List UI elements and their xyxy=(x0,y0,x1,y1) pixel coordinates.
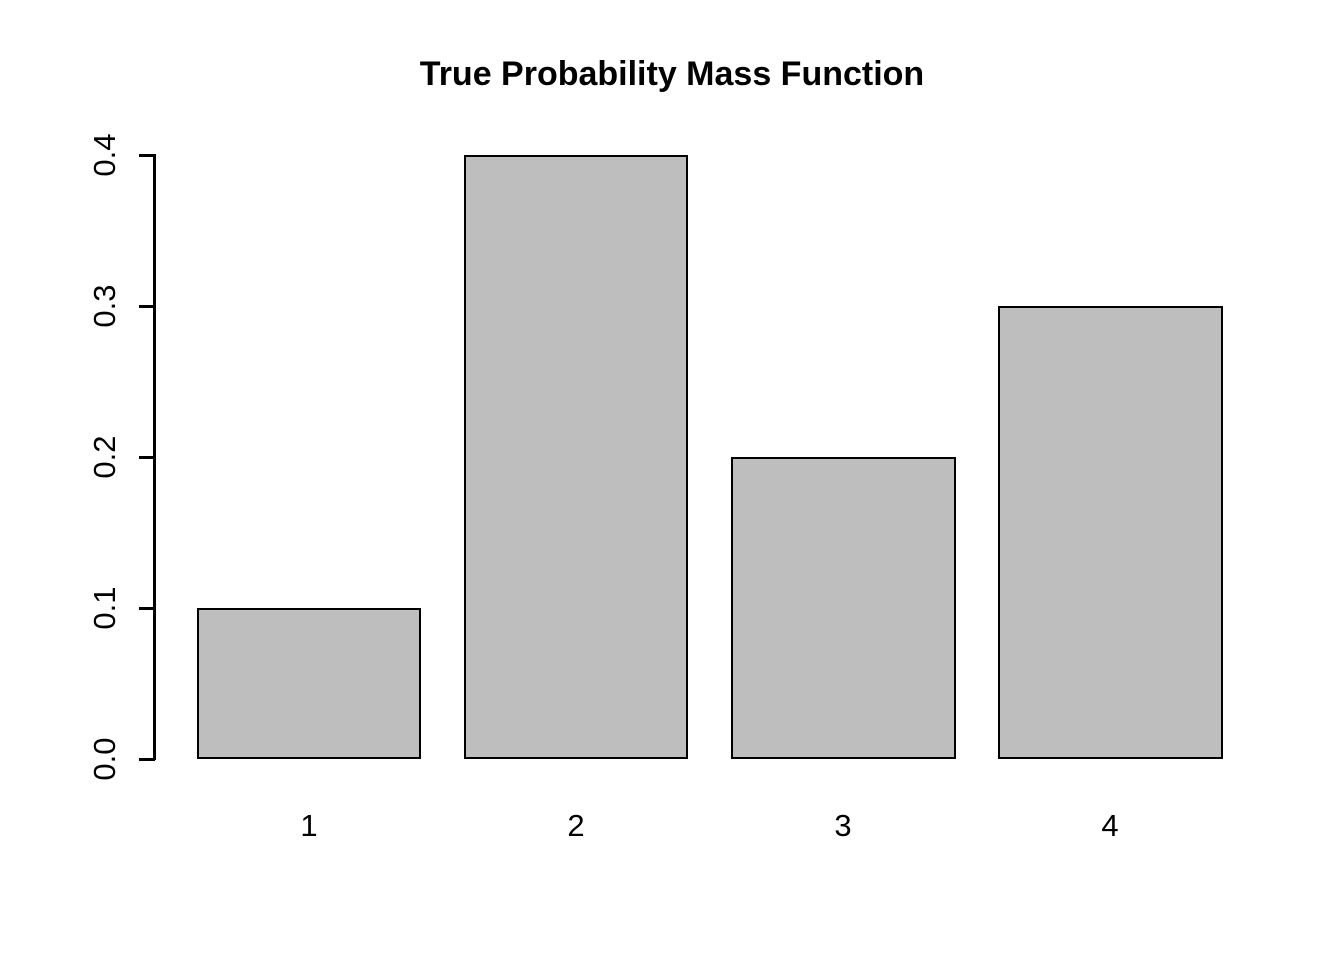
y-tick-mark-0 xyxy=(139,758,155,761)
x-tick-label-3: 3 xyxy=(783,808,903,844)
bar-2[interactable] xyxy=(464,155,688,759)
y-tick-label-2: 0.2 xyxy=(92,397,118,517)
bar-4[interactable] xyxy=(998,306,1223,759)
y-tick-label-4: 0.4 xyxy=(92,95,118,215)
bar-3[interactable] xyxy=(731,457,956,759)
y-tick-mark-1 xyxy=(139,607,155,610)
y-tick-label-3: 0.3 xyxy=(92,246,118,366)
y-tick-label-0: 0.0 xyxy=(92,699,118,819)
x-tick-label-4: 4 xyxy=(1050,808,1170,844)
bar-chart-plot: True Probability Mass Function 0.0 0.1 0… xyxy=(0,0,1344,960)
y-tick-label-1: 0.1 xyxy=(92,548,118,668)
bar-1[interactable] xyxy=(197,608,421,759)
y-tick-mark-2 xyxy=(139,456,155,459)
y-tick-mark-3 xyxy=(139,305,155,308)
chart-title: True Probability Mass Function xyxy=(0,57,1344,91)
y-tick-mark-4 xyxy=(139,154,155,157)
x-tick-label-2: 2 xyxy=(516,808,636,844)
x-tick-label-1: 1 xyxy=(249,808,369,844)
